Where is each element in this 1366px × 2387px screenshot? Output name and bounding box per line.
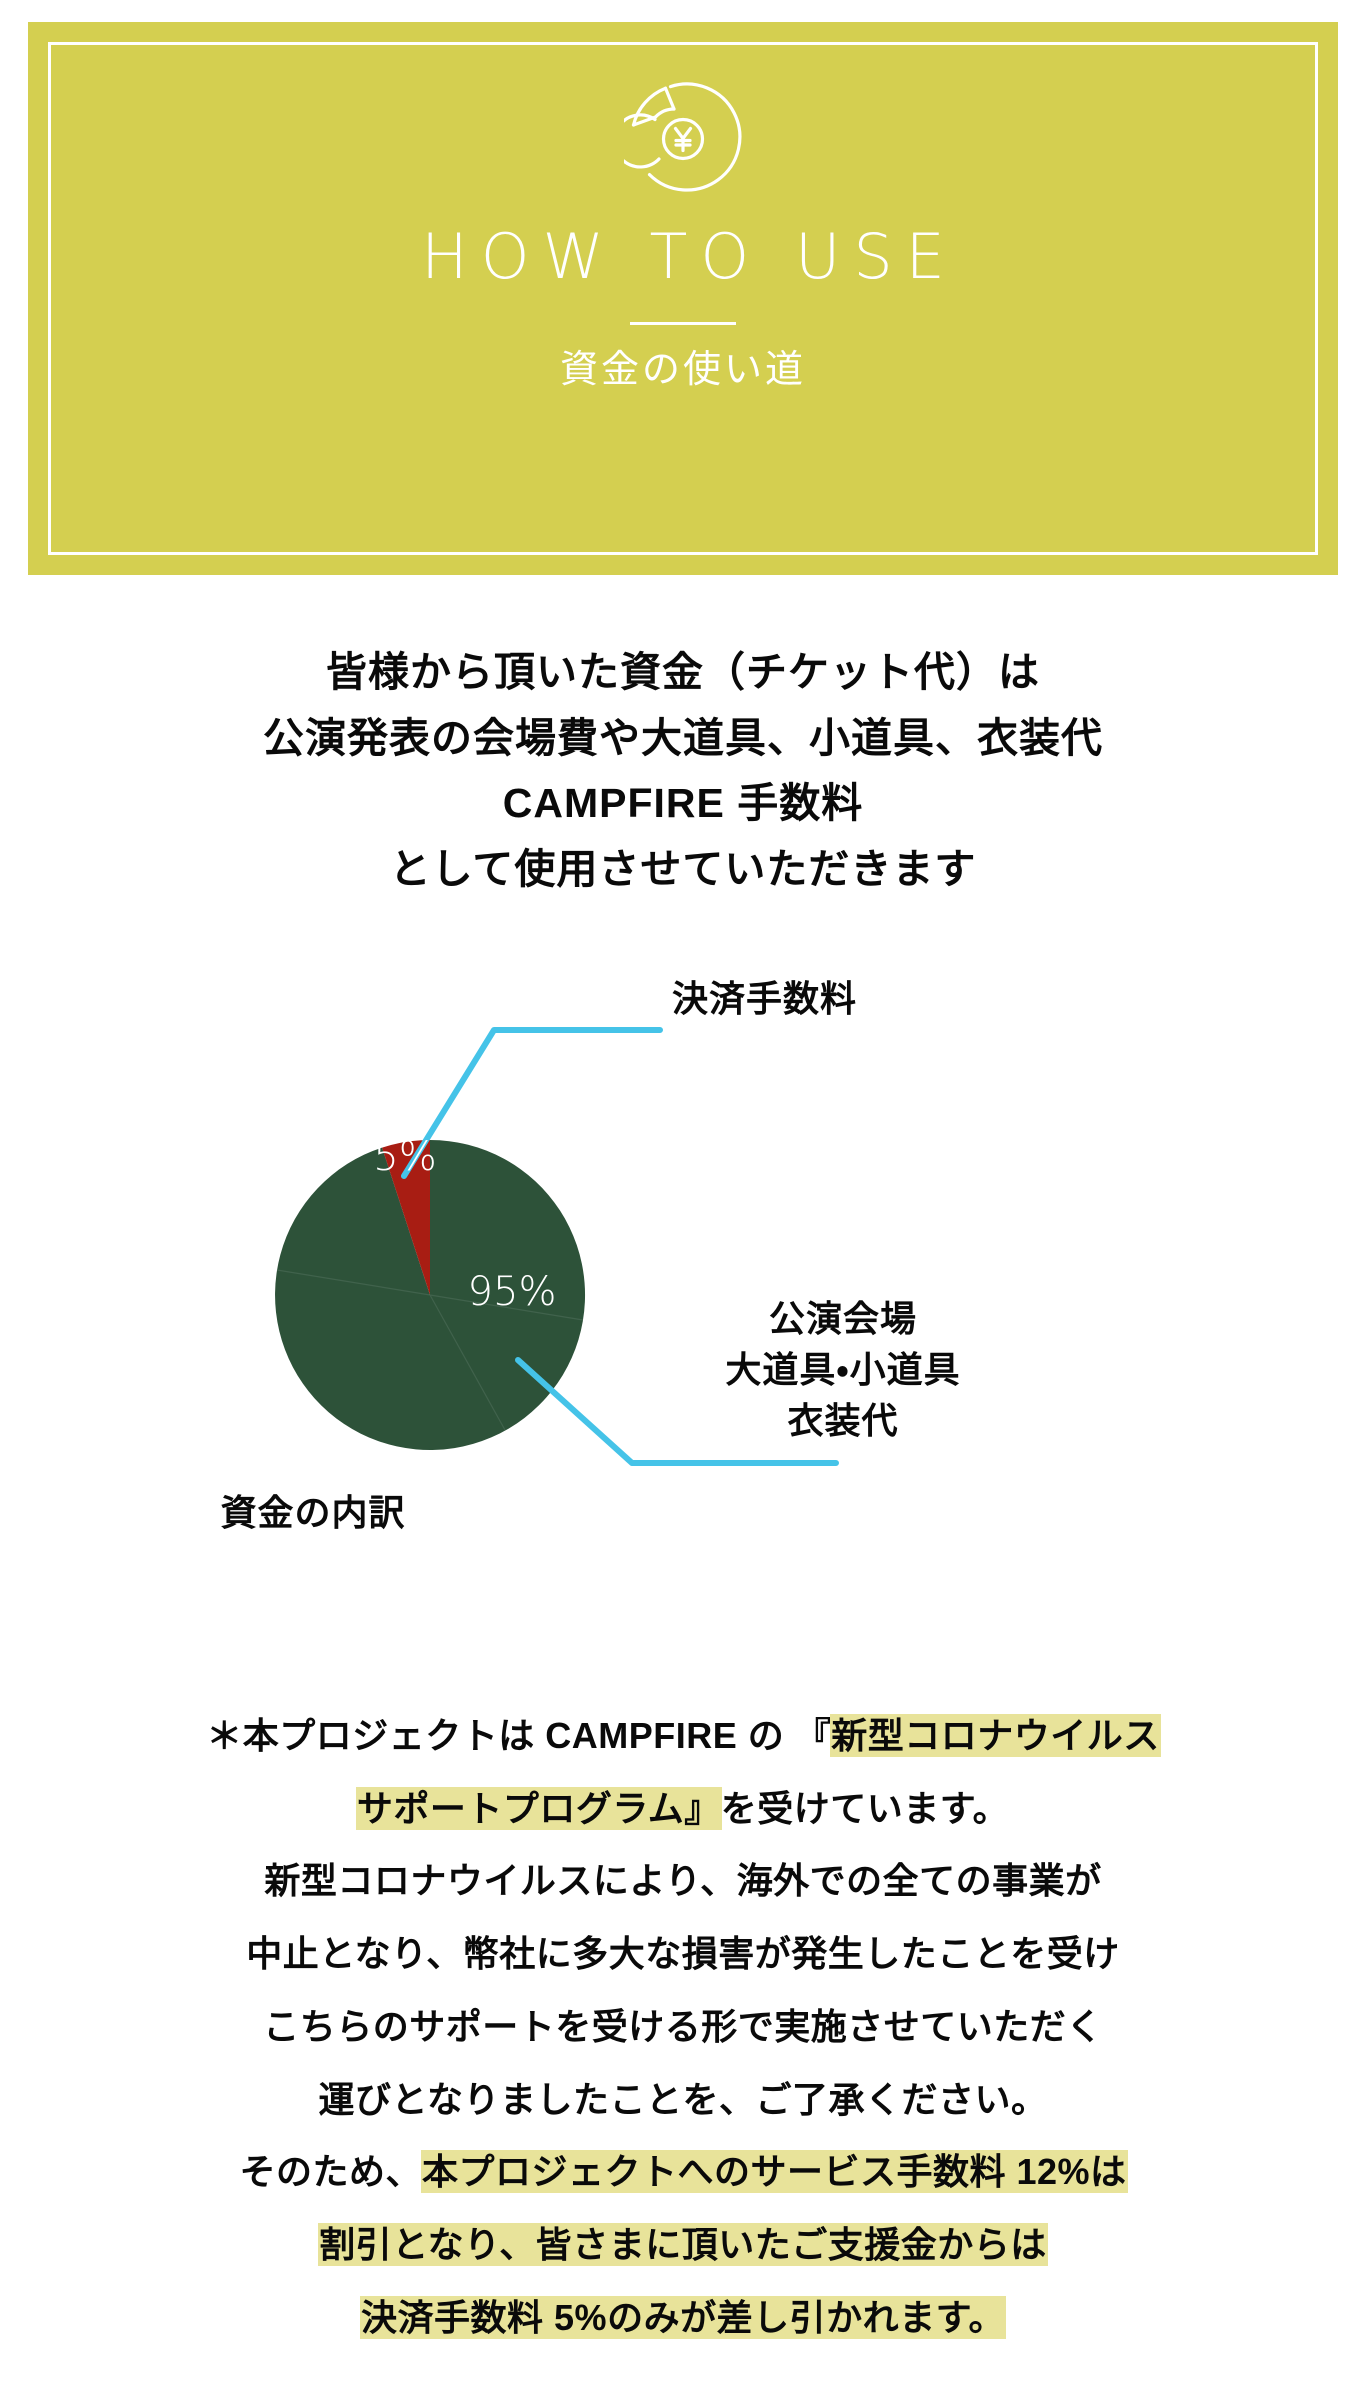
plain-text: 中止となり、幣社に多大な損害が発生したことを受け	[246, 1933, 1119, 1974]
pie-callout-venue: 公演会場 大道具・小道具 衣装代	[725, 1293, 960, 1446]
footnote-line: ＊本プロジェクトは CAMPFIRE の 『新型コロナウイルス	[0, 1700, 1366, 1773]
highlighted-text: 新型コロナウイルス	[831, 1715, 1160, 1756]
footnote-line: サポートプログラム』を受けています。	[0, 1773, 1366, 1846]
pie-slice-main-label: 95%	[468, 1269, 557, 1315]
donut-chart-yen-icon	[624, 80, 742, 198]
page-subtitle: 資金の使い道	[560, 345, 806, 396]
intro-line: CAMPFIRE 手数料	[0, 771, 1366, 837]
pie-slice-fee-label: 5%	[373, 1134, 436, 1180]
highlighted-text: 決済手数料 5%のみが差し引かれます。	[361, 2297, 1005, 2338]
pie-chart-caption: 資金の内訳	[220, 1484, 405, 1536]
pie-callout-fee: 決済手数料	[672, 973, 857, 1024]
funds-breakdown-pie-chart: 5% 95% 決済手数料 公演会場 大道具・小道具 衣装代 資金の内訳	[0, 960, 1366, 1580]
pie-callout-venue-line-1: 公演会場	[725, 1293, 960, 1344]
intro-line: 公演発表の会場費や大道具、小道具、衣装代	[0, 706, 1366, 772]
footnote-line: こちらのサポートを受ける形で実施させていただく	[0, 1991, 1366, 2064]
footnote-line: 決済手数料 5%のみが差し引かれます。	[0, 2282, 1366, 2355]
footnote-line: そのため、本プロジェクトへのサービス手数料 12%は	[0, 2136, 1366, 2209]
highlighted-text: サポートプログラム』	[357, 1788, 721, 1829]
plain-text: こちらのサポートを受ける形で実施させていただく	[263, 2006, 1103, 2047]
pie-chart-svg: 5% 95%	[0, 960, 1366, 1580]
pie-callout-venue-line-2: 大道具・小道具	[725, 1344, 960, 1395]
page-title: HOW TO USE	[408, 226, 958, 288]
highlighted-text: 本プロジェクトへのサービス手数料 12%は	[422, 2151, 1127, 2192]
intro-line: として使用させていただきます	[0, 837, 1366, 903]
title-divider	[630, 322, 736, 325]
footnote-paragraph: ＊本プロジェクトは CAMPFIRE の 『新型コロナウイルス サポートプログラ…	[0, 1700, 1366, 2354]
intro-paragraph: 皆様から頂いた資金（チケット代）は 公演発表の会場費や大道具、小道具、衣装代 C…	[0, 640, 1366, 902]
footnote-line: 中止となり、幣社に多大な損害が発生したことを受け	[0, 1918, 1366, 1991]
plain-text: 運びとなりましたことを、ご了承ください。	[319, 2079, 1048, 2120]
plain-text: ＊本プロジェクトは CAMPFIRE の 『	[206, 1715, 831, 1756]
hero-banner: HOW TO USE 資金の使い道	[28, 22, 1338, 575]
plain-text: 新型コロナウイルスにより、海外での全ての事業が	[264, 1860, 1101, 1901]
footnote-line: 割引となり、皆さまに頂いたご支援金からは	[0, 2209, 1366, 2282]
plain-text: を受けています。	[721, 1788, 1009, 1829]
footnote-line: 新型コロナウイルスにより、海外での全ての事業が	[0, 1845, 1366, 1918]
hero-content: HOW TO USE 資金の使い道	[28, 22, 1338, 575]
pie-callout-venue-line-3: 衣装代	[725, 1395, 960, 1446]
plain-text: そのため、	[239, 2151, 422, 2192]
intro-line: 皆様から頂いた資金（チケット代）は	[0, 640, 1366, 706]
footnote-line: 運びとなりましたことを、ご了承ください。	[0, 2064, 1366, 2137]
highlighted-text: 割引となり、皆さまに頂いたご支援金からは	[319, 2224, 1046, 2265]
